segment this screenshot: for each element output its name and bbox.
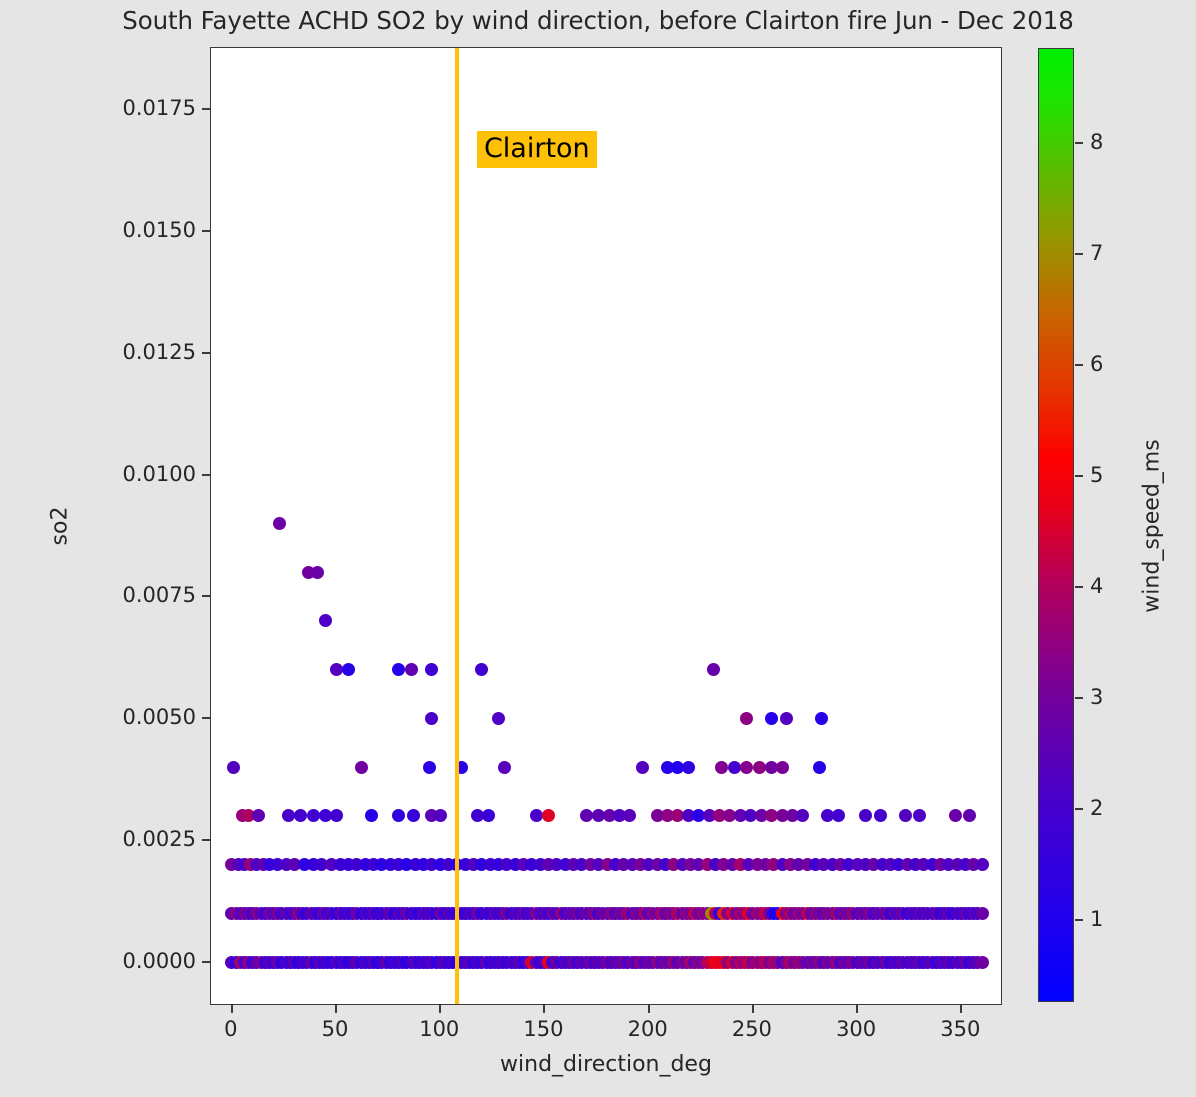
- y-tick: [202, 839, 210, 841]
- data-point: [405, 663, 418, 676]
- data-point: [780, 712, 793, 725]
- data-point: [282, 809, 295, 822]
- clairton-annotation: Clairton: [477, 131, 597, 168]
- clairton-vline: [455, 48, 459, 1004]
- data-point: [273, 517, 286, 530]
- data-point: [530, 809, 543, 822]
- y-tick: [202, 352, 210, 354]
- data-point: [294, 809, 307, 822]
- colorbar-tick: [1075, 475, 1083, 477]
- colorbar-tick: [1075, 808, 1083, 810]
- data-point: [407, 809, 420, 822]
- data-point: [425, 663, 438, 676]
- data-point: [636, 761, 649, 774]
- y-tick: [202, 595, 210, 597]
- colorbar-tick-label: 3: [1090, 685, 1103, 709]
- data-point: [776, 761, 789, 774]
- x-tick: [752, 1005, 754, 1013]
- data-point: [342, 663, 355, 676]
- x-tick: [648, 1005, 650, 1013]
- scatter-points-layer: [211, 48, 1001, 1004]
- x-tick: [231, 1005, 233, 1013]
- data-point: [815, 712, 828, 725]
- y-tick-label: 0.0000: [123, 949, 196, 973]
- data-point: [740, 761, 753, 774]
- data-point: [392, 809, 405, 822]
- x-axis-label: wind_direction_deg: [210, 1052, 1002, 1077]
- colorbar-tick-label: 1: [1090, 907, 1103, 931]
- y-tick: [202, 474, 210, 476]
- x-tick-label: 0: [224, 1017, 237, 1041]
- data-point: [832, 809, 845, 822]
- data-point: [976, 858, 989, 871]
- y-axis-label: so2: [48, 507, 73, 546]
- colorbar-tick: [1075, 919, 1083, 921]
- data-point: [765, 712, 778, 725]
- data-point: [423, 761, 436, 774]
- y-tick-label: 0.0025: [123, 827, 196, 851]
- colorbar-tick-label: 7: [1090, 241, 1103, 265]
- data-point: [874, 809, 887, 822]
- colorbar-label: wind_speed_ms: [1140, 439, 1165, 612]
- x-tick: [439, 1005, 441, 1013]
- data-point: [319, 614, 332, 627]
- plot-area[interactable]: Clairton: [210, 47, 1002, 1005]
- y-tick-label: 0.0075: [123, 583, 196, 607]
- data-point: [580, 809, 593, 822]
- y-tick-label: 0.0050: [123, 705, 196, 729]
- x-tick-label: 50: [322, 1017, 349, 1041]
- data-point: [392, 663, 405, 676]
- y-tick-label: 0.0100: [123, 462, 196, 486]
- data-point: [753, 761, 766, 774]
- colorbar-tick: [1075, 364, 1083, 366]
- x-tick-label: 150: [523, 1017, 563, 1041]
- colorbar-tick: [1075, 586, 1083, 588]
- data-point: [813, 761, 826, 774]
- x-tick-label: 200: [628, 1017, 668, 1041]
- colorbar-tick-label: 4: [1090, 574, 1103, 598]
- x-tick: [856, 1005, 858, 1013]
- data-point: [355, 761, 368, 774]
- y-tick-label: 0.0125: [123, 340, 196, 364]
- data-point: [682, 761, 695, 774]
- colorbar-tick: [1075, 697, 1083, 699]
- data-point: [859, 809, 872, 822]
- data-point: [976, 907, 989, 920]
- data-point: [425, 712, 438, 725]
- x-tick-label: 100: [419, 1017, 459, 1041]
- data-point: [976, 956, 989, 969]
- figure-canvas: South Fayette ACHD SO2 by wind direction…: [0, 0, 1196, 1097]
- data-point: [542, 809, 555, 822]
- data-point: [365, 809, 378, 822]
- data-point: [740, 712, 753, 725]
- y-tick-label: 0.0150: [123, 218, 196, 242]
- data-point: [899, 809, 912, 822]
- data-point: [330, 809, 343, 822]
- x-tick-label: 250: [732, 1017, 772, 1041]
- x-tick: [960, 1005, 962, 1013]
- x-tick: [335, 1005, 337, 1013]
- data-point: [492, 712, 505, 725]
- data-point: [475, 663, 488, 676]
- y-tick-label: 0.0175: [123, 96, 196, 120]
- data-point: [796, 809, 809, 822]
- colorbar-tick-label: 6: [1090, 352, 1103, 376]
- colorbar-tick: [1075, 253, 1083, 255]
- data-point: [311, 566, 324, 579]
- data-point: [963, 809, 976, 822]
- colorbar[interactable]: [1038, 48, 1074, 1002]
- x-tick-label: 350: [940, 1017, 980, 1041]
- data-point: [707, 663, 720, 676]
- x-tick: [543, 1005, 545, 1013]
- y-tick: [202, 230, 210, 232]
- page-title: South Fayette ACHD SO2 by wind direction…: [0, 6, 1196, 35]
- data-point: [434, 809, 447, 822]
- x-tick-label: 300: [836, 1017, 876, 1041]
- data-point: [949, 809, 962, 822]
- data-point: [482, 809, 495, 822]
- data-point: [252, 809, 265, 822]
- colorbar-tick-label: 2: [1090, 796, 1103, 820]
- y-tick: [202, 108, 210, 110]
- data-point: [728, 761, 741, 774]
- y-tick: [202, 717, 210, 719]
- data-point: [330, 663, 343, 676]
- data-point: [227, 761, 240, 774]
- colorbar-tick-label: 5: [1090, 463, 1103, 487]
- data-point: [623, 809, 636, 822]
- colorbar-tick-label: 8: [1090, 130, 1103, 154]
- y-tick: [202, 961, 210, 963]
- data-point: [715, 761, 728, 774]
- colorbar-tick: [1075, 142, 1083, 144]
- data-point: [913, 809, 926, 822]
- data-point: [307, 809, 320, 822]
- data-point: [498, 761, 511, 774]
